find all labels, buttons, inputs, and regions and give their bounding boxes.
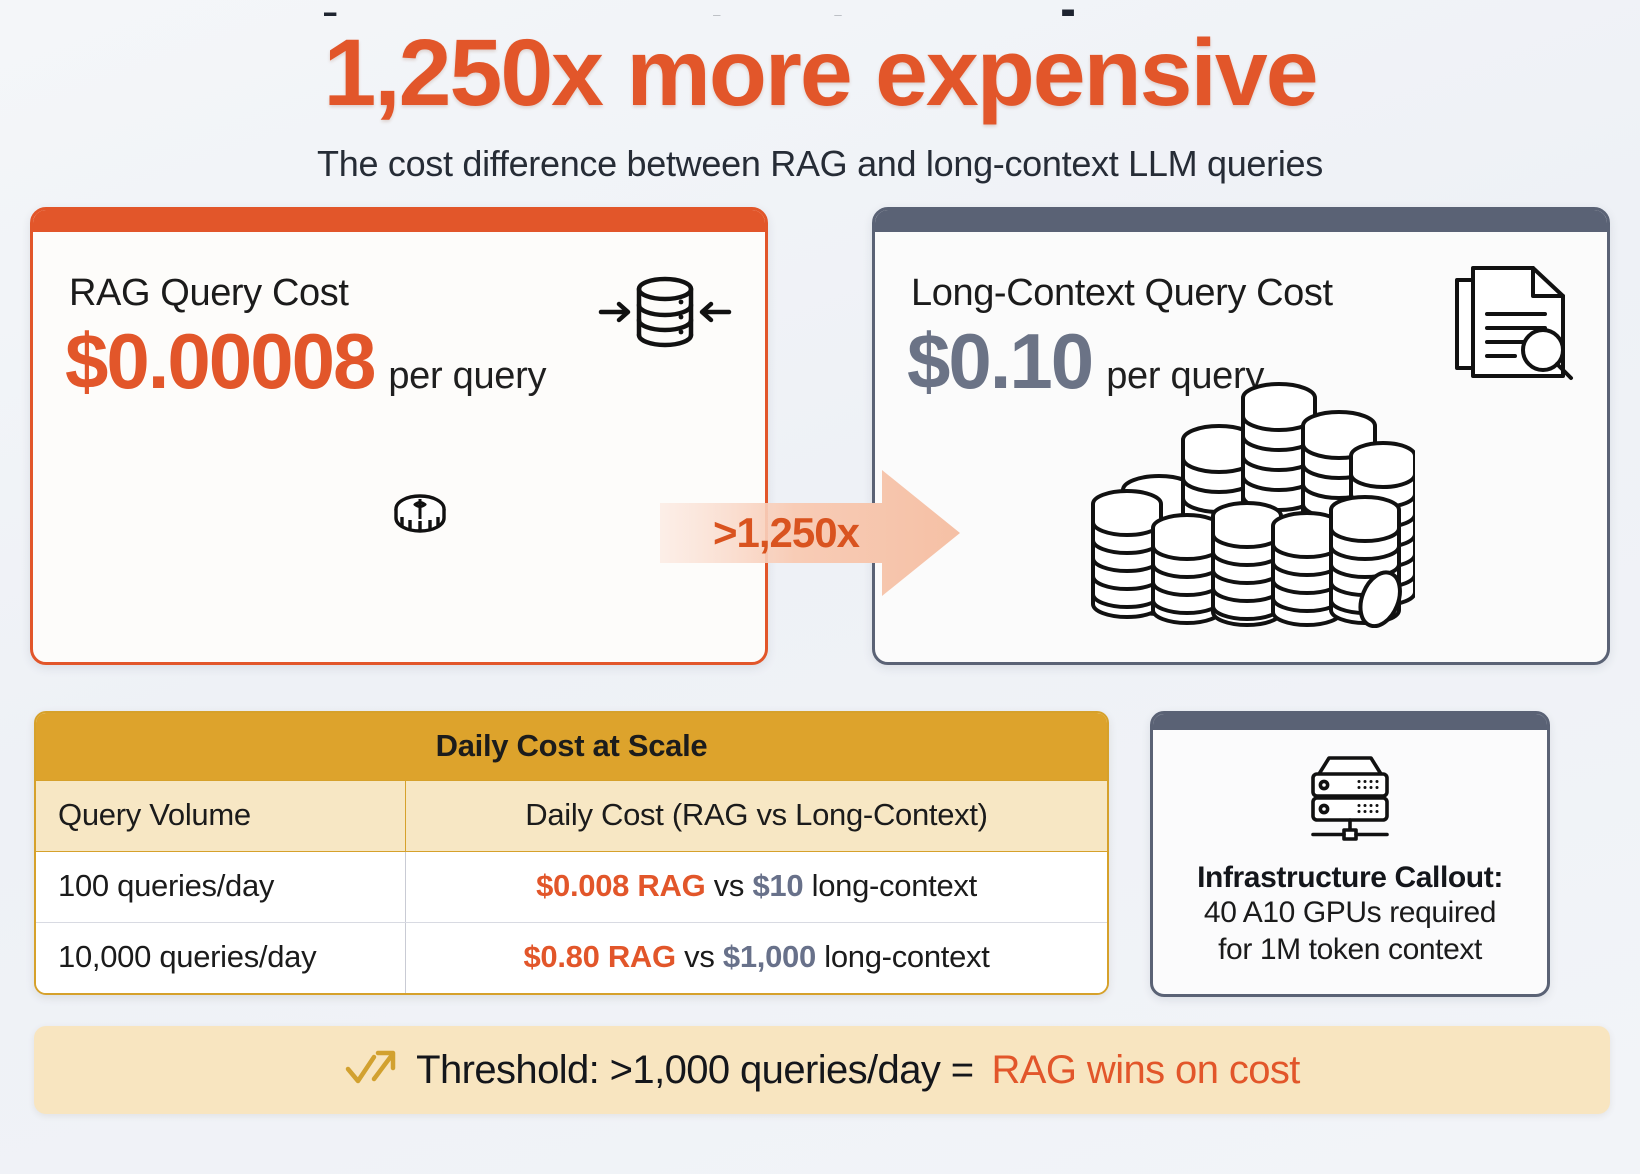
rag-card-accent-bar [33, 210, 765, 232]
long-context-card-amount: $0.10 [907, 322, 1092, 400]
infra-title: Infrastructure Callout: [1153, 861, 1547, 895]
rag-cost-card: RAG Query Cost $0.00008 per query [30, 207, 768, 665]
column-header-query-volume: Query Volume [36, 781, 406, 851]
table-row: 100 queries/day $0.008 RAG vs $10 long-c… [36, 852, 1107, 922]
cell-vs-label: vs [684, 939, 714, 974]
infrastructure-callout-card: Infrastructure Callout: 40 A10 GPUs requ… [1150, 711, 1550, 997]
cell-rag-cost: $0.80 RAG [523, 939, 675, 974]
threshold-text: Threshold: >1,000 queries/day = [416, 1048, 973, 1093]
infra-card-accent-bar [1153, 714, 1547, 730]
rag-card-amount-row: $0.00008 per query [65, 322, 546, 400]
table-row: 10,000 queries/day $0.80 RAG vs $1,000 l… [36, 922, 1107, 993]
cell-long-context-label: long-context [824, 939, 989, 974]
server-rack-icon [1153, 748, 1547, 849]
threshold-banner: Threshold: >1,000 queries/day = RAG wins… [34, 1026, 1610, 1114]
table-title: Daily Cost at Scale [36, 713, 1107, 780]
infra-line-2: for 1M token context [1153, 932, 1547, 969]
page-subtitle: The cost difference between RAG and long… [0, 143, 1640, 185]
rag-card-unit: per query [388, 355, 546, 398]
coin-icon [388, 485, 452, 548]
cell-query-volume: 100 queries/day [36, 852, 406, 922]
coin-stacks-icon [1075, 378, 1415, 633]
long-context-card-title: Long-Context Query Cost [911, 272, 1333, 315]
cell-vs-label: vs [714, 868, 744, 903]
column-header-daily-cost: Daily Cost (RAG vs Long-Context) [406, 781, 1107, 851]
rag-card-amount: $0.00008 [65, 322, 374, 400]
page-title: 1,250x more expensive [0, 26, 1640, 121]
header-eyebrow: Long-context queries are [0, 0, 1640, 16]
long-context-card-accent-bar [875, 210, 1607, 232]
rag-card-title: RAG Query Cost [69, 272, 348, 315]
long-context-cost-card: Long-Context Query Cost $0.10 per query [872, 207, 1610, 665]
infra-line-1: 40 A10 GPUs required [1153, 895, 1547, 932]
document-search-icon [1447, 262, 1577, 395]
cell-daily-cost: $0.008 RAG vs $10 long-context [406, 852, 1107, 922]
cell-query-volume: 10,000 queries/day [36, 923, 406, 993]
trend-up-icon [344, 1045, 398, 1096]
header: Long-context queries are 1,250x more exp… [0, 0, 1640, 185]
cost-cards-row: RAG Query Cost $0.00008 per query [30, 207, 1610, 667]
table-header-row: Query Volume Daily Cost (RAG vs Long-Con… [36, 780, 1107, 852]
cell-rag-cost: $0.008 RAG [536, 868, 705, 903]
cell-long-context-cost: $10 [752, 868, 803, 903]
cell-long-context-label: long-context [812, 868, 977, 903]
threshold-accent-text: RAG wins on cost [992, 1048, 1300, 1093]
database-icon [595, 262, 735, 367]
daily-cost-table: Daily Cost at Scale Query Volume Daily C… [34, 711, 1109, 995]
cell-daily-cost: $0.80 RAG vs $1,000 long-context [406, 923, 1107, 993]
cell-long-context-cost: $1,000 [723, 939, 816, 974]
